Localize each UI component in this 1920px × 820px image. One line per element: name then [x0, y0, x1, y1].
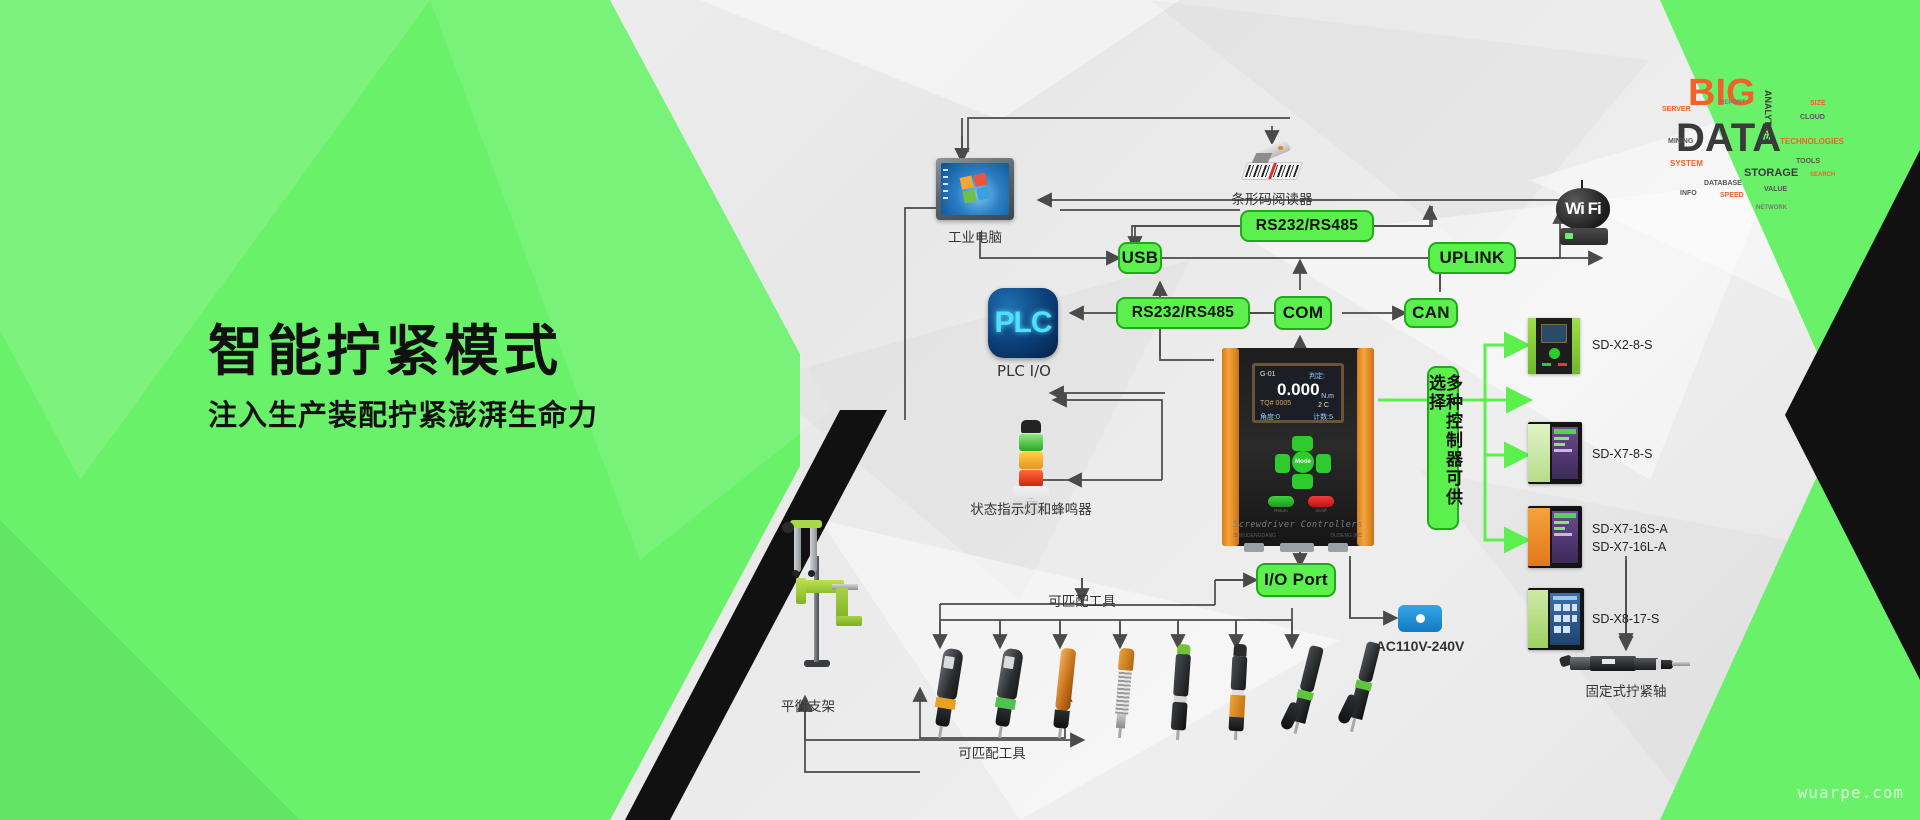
stacklight-green: [1019, 434, 1043, 451]
fixed-spindle-label: 固定式拧紧轴: [1566, 680, 1686, 700]
controller-connectors: [1222, 543, 1374, 553]
arrow-down-button[interactable]: [1292, 474, 1313, 489]
balance-stand-label: 平衡支架: [760, 695, 856, 715]
pill-rs232-top[interactable]: RS232/RS485: [1240, 210, 1374, 242]
power-button-caption: on/off: [1306, 508, 1336, 513]
bigdata-word: BIG: [1688, 74, 1756, 112]
stacklight-cap: [1021, 420, 1041, 433]
status-light-label: 状态指示灯和蜂鸣器: [955, 498, 1107, 518]
lcd-count: 计数:5: [1313, 412, 1333, 422]
pill-usb[interactable]: USB: [1118, 242, 1162, 274]
bigdata-word: CLOUD: [1800, 114, 1825, 121]
controller-model-5-label: SD-X8-17-S: [1592, 612, 1659, 626]
bigdata-word: REPORT: [1720, 100, 1745, 106]
controller-model-2[interactable]: [1528, 422, 1582, 484]
controller-footer-right: DUDENG.INC: [1330, 533, 1362, 539]
wifi-label: Wi Fi: [1556, 188, 1610, 230]
bigdata-word: DATABASE: [1704, 180, 1742, 187]
bigdata-word: INFO: [1680, 190, 1697, 197]
bigdata-word: STORAGE: [1744, 168, 1798, 179]
multi-controller-text: 多种控制器可供选择: [1426, 374, 1460, 522]
pill-io-port[interactable]: I/O Port: [1256, 563, 1336, 597]
controller-keypad[interactable]: Mode: [1275, 436, 1331, 488]
wifi-device-body: [1560, 228, 1608, 245]
plc-io-label: PLC I/O: [978, 362, 1070, 380]
controller-model-1[interactable]: [1528, 318, 1580, 374]
main-screwdriver-controller[interactable]: G-01 判定: 0.000 N.m TQ# 0005 2 C 角度:0 计数:…: [1222, 348, 1374, 546]
tool-screwdriver-3: [1044, 647, 1083, 740]
hero-text-block: 智能拧紧模式 注入生产装配拧紧澎湃生命力: [208, 322, 598, 434]
lcd-temperature: 2 C: [1318, 402, 1329, 409]
barcode-reader-icon: [1234, 142, 1310, 184]
controller-model-3-label: SD-X7-16S-A: [1592, 522, 1668, 536]
tool-pistol-grip-2: [1331, 638, 1397, 749]
bigdata-word: SEARCH: [1810, 172, 1835, 178]
controller-model-3[interactable]: [1528, 506, 1582, 568]
pill-rs232-left[interactable]: RS232/RS485: [1116, 297, 1250, 329]
multi-controller-label: 多种控制器可供选择: [1427, 366, 1459, 530]
pc-screen: [941, 163, 1009, 215]
controller-model-4-label: SD-X7-16L-A: [1592, 540, 1666, 554]
industrial-pc-monitor: [936, 158, 1014, 220]
tool-screwdriver-2: [984, 647, 1030, 741]
controller-footer-left: S.WUDENGDANG: [1234, 533, 1276, 539]
bigdata-word: TECHNOLOGIES: [1780, 138, 1844, 146]
controller-model-1-label: SD-X2-8-S: [1592, 338, 1652, 352]
fixed-spindle-icon: [1556, 650, 1696, 676]
pill-can[interactable]: CAN: [1404, 298, 1458, 328]
bigdata-word: SERVER: [1662, 106, 1691, 113]
controller-lcd: G-01 判定: 0.000 N.m TQ# 0005 2 C 角度:0 计数:…: [1252, 363, 1344, 423]
hero-subtitle: 注入生产装配拧紧澎湃生命力: [208, 392, 598, 434]
matchable-tools-label-bottom: 可匹配工具: [946, 742, 1038, 762]
tool-pistol-grip-1: [1275, 642, 1340, 749]
industrial-pc-label: 工业电脑: [936, 226, 1014, 246]
bigdata-word: VALUE: [1764, 186, 1787, 193]
bigdata-word: ANALYTICS: [1763, 90, 1772, 141]
pill-uplink[interactable]: UPLINK: [1428, 242, 1516, 274]
power-supply-icon: [1398, 605, 1442, 632]
controller-model-5[interactable]: [1528, 588, 1584, 650]
controller-footer: S.WUDENGDANG DUDENG.INC: [1222, 533, 1374, 539]
pill-com[interactable]: COM: [1274, 296, 1332, 330]
bigdata-word: NETWORK: [1756, 205, 1787, 211]
mode-button[interactable]: Mode: [1292, 451, 1314, 473]
arrow-right-button[interactable]: [1316, 454, 1331, 473]
stacklight-red: [1019, 470, 1043, 487]
banner-stage: 智能拧紧模式 注入生产装配拧紧澎湃生命力: [0, 0, 1920, 820]
bigdata-word: TOOLS: [1796, 158, 1820, 165]
lcd-program: G-01: [1260, 371, 1276, 378]
matchable-tools-label-top: 可匹配工具: [1036, 590, 1128, 610]
tool-screwdriver-6: [1220, 643, 1255, 740]
big-data-wordcloud: BIGDATAANALYTICSTECHNOLOGIESSTORAGESYSTE…: [1660, 60, 1860, 220]
controller-brand: Screwdriver Controllers: [1222, 520, 1374, 530]
plc-icon-text: PLC: [995, 306, 1052, 340]
arrow-up-button[interactable]: [1292, 436, 1313, 451]
watermark: wuarpe.com: [1798, 783, 1904, 802]
arrow-left-button[interactable]: [1275, 454, 1290, 473]
lcd-angle: 角度:0: [1260, 412, 1280, 422]
wifi-router-icon: Wi Fi: [1556, 180, 1612, 246]
pc-taskbar: [943, 169, 948, 200]
bigdata-word: SPEED: [1720, 192, 1744, 199]
controller-rail-right: [1357, 348, 1374, 546]
controller-model-2-label: SD-X7-8-S: [1592, 447, 1652, 461]
return-button[interactable]: [1268, 496, 1294, 507]
controller-rail-left: [1222, 348, 1239, 546]
lcd-unit: N.m: [1321, 393, 1334, 400]
barcode-reader-label: 条形码阅读器: [1212, 188, 1332, 208]
tool-screwdriver-4: [1104, 647, 1142, 739]
stacklight-yellow: [1019, 452, 1043, 469]
hero-title: 智能拧紧模式: [208, 322, 598, 380]
power-button[interactable]: [1308, 496, 1334, 507]
lcd-torque-ref: TQ# 0005: [1260, 400, 1291, 407]
wifi-badge: Wi Fi: [1556, 188, 1610, 230]
plc-io-icon: PLC: [988, 288, 1058, 358]
tool-screwdriver-5: [1162, 643, 1199, 741]
bigdata-word: SYSTEM: [1670, 160, 1703, 168]
bigdata-word: MINING: [1668, 138, 1693, 145]
tool-screwdriver-1: [924, 647, 970, 741]
lcd-torque-value: 0.000: [1277, 380, 1320, 400]
balance-stand-icon: [770, 520, 860, 690]
bigdata-word: SIZE: [1810, 100, 1826, 107]
return-button-caption: Return: [1266, 508, 1296, 513]
